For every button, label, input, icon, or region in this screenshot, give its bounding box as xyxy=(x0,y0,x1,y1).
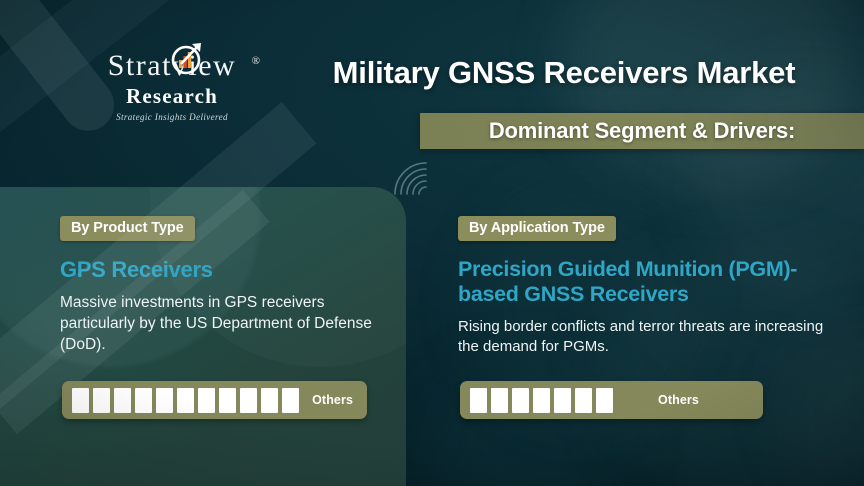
share-bar-ticks xyxy=(72,388,299,413)
share-bar-tick xyxy=(596,388,613,413)
segment-pill-label: By Product Type xyxy=(60,216,195,241)
registered-trademark-icon: ® xyxy=(252,55,260,67)
share-bar-ticks xyxy=(470,388,613,413)
segment-pill-label: By Application Type xyxy=(458,216,616,241)
subtitle-text: Dominant Segment & Drivers: xyxy=(489,118,795,144)
share-bar-tick xyxy=(135,388,152,413)
brand-logo[interactable]: Stratview ® Research Strategic Insights … xyxy=(72,44,272,126)
segment-block-application-type: By Application Type Precision Guided Mun… xyxy=(458,216,828,357)
share-bar-tick xyxy=(93,388,110,413)
share-bar-tick xyxy=(491,388,508,413)
segment-title: GPS Receivers xyxy=(60,257,380,282)
logo-tagline: Strategic Insights Delivered xyxy=(72,112,272,122)
share-bar-tick xyxy=(177,388,194,413)
background-blur-blob xyxy=(560,0,860,190)
share-bar-tick xyxy=(114,388,131,413)
share-bar-others-label: Others xyxy=(312,393,357,407)
share-bar-tick xyxy=(575,388,592,413)
share-bar-tick xyxy=(533,388,550,413)
subtitle-banner: Dominant Segment & Drivers: xyxy=(420,113,864,149)
logo-primary-row: Stratview ® xyxy=(72,44,272,90)
share-bar-tick xyxy=(512,388,529,413)
segment-title: Precision Guided Munition (PGM)- based G… xyxy=(458,257,828,307)
infographic-canvas: Stratview ® Research Strategic Insights … xyxy=(0,0,864,486)
share-bar-others-label: Others xyxy=(658,393,703,407)
share-bar-tick xyxy=(240,388,257,413)
segment-block-product-type: By Product Type GPS Receivers Massive in… xyxy=(60,216,380,355)
share-bar-product-type: Others xyxy=(62,381,367,419)
page-title: Military GNSS Receivers Market xyxy=(296,55,832,91)
share-bar-tick xyxy=(554,388,571,413)
target-arrow-barchart-icon xyxy=(167,38,211,78)
share-bar-tick xyxy=(219,388,236,413)
background-blur-blob xyxy=(430,360,630,486)
share-bar-application-type: Others xyxy=(460,381,763,419)
segment-description: Rising border conflicts and terror threa… xyxy=(458,317,828,357)
share-bar-tick xyxy=(282,388,299,413)
share-bar-tick xyxy=(198,388,215,413)
signal-waves-icon xyxy=(390,158,432,200)
share-bar-tick xyxy=(470,388,487,413)
segment-description: Massive investments in GPS receivers par… xyxy=(60,292,380,355)
share-bar-tick xyxy=(156,388,173,413)
share-bar-tick xyxy=(261,388,278,413)
share-bar-tick xyxy=(72,388,89,413)
